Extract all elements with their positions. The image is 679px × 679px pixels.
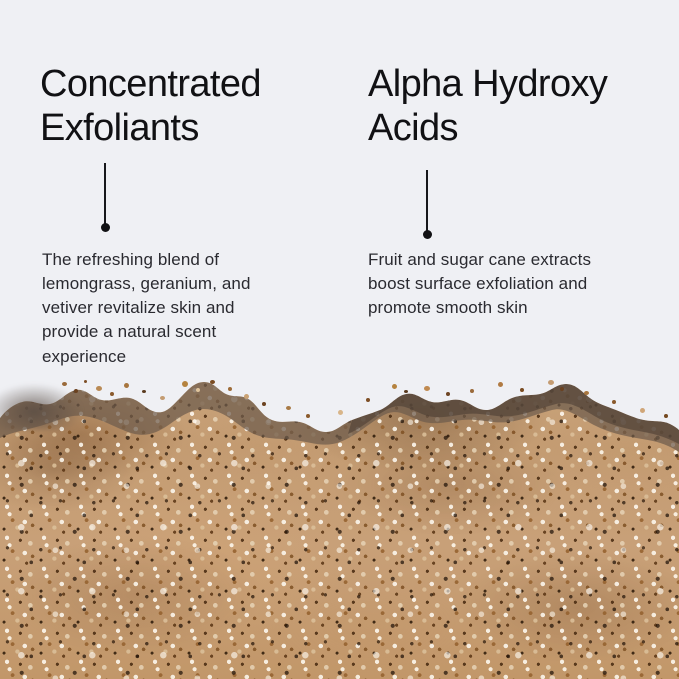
grain-speck (470, 389, 474, 393)
connector-dot-icon (423, 230, 432, 239)
grain-speck (286, 406, 291, 410)
grain-speck (196, 388, 200, 392)
grain-speck (210, 380, 215, 384)
grain-speck (424, 386, 430, 391)
page-title-secondary: Alpha Hydroxy Acids (368, 62, 668, 150)
feature-description: The refreshing blend of lemongrass, gera… (42, 248, 310, 369)
connector-dot-icon (101, 223, 110, 232)
grain-speck (182, 381, 188, 387)
grain-speck (110, 392, 114, 396)
page-title: Concentrated Exfoliants (40, 62, 330, 150)
grain-speck (84, 380, 87, 383)
grain-speck (404, 390, 408, 393)
grain-speck (560, 387, 564, 391)
grain-speck (392, 384, 397, 389)
grain-speck (520, 388, 524, 392)
scrub-texture-image (0, 380, 679, 679)
grain-speck (160, 396, 165, 400)
grain-speck (584, 391, 589, 395)
grain-speck (62, 382, 67, 386)
grain-speck (124, 383, 129, 388)
infographic-canvas: Concentrated Exfoliants The refreshing b… (0, 0, 679, 679)
grain-speck (96, 386, 102, 391)
grain-speck (142, 390, 146, 393)
grain-speck (228, 387, 232, 391)
grain-speck (548, 380, 554, 385)
grain-speck (244, 394, 249, 399)
grain-speck (366, 398, 370, 402)
grain-speck (338, 410, 343, 415)
scrub-loose-grains (0, 380, 679, 679)
grain-speck (446, 392, 450, 396)
grain-speck (74, 389, 78, 393)
feature-description-secondary: Fruit and sugar cane extracts boost surf… (368, 248, 648, 320)
grain-speck (640, 408, 645, 413)
connector-line-icon (104, 163, 106, 225)
grain-speck (262, 402, 266, 406)
grain-speck (498, 382, 503, 387)
grain-speck (612, 400, 616, 404)
grain-speck (664, 414, 668, 418)
grain-speck (306, 414, 310, 418)
connector-line-icon (426, 170, 428, 232)
